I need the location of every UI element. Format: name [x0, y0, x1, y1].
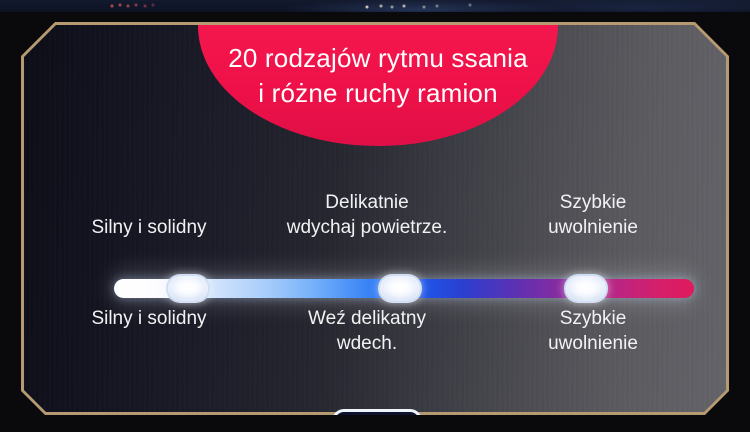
outer-edge-right [729, 12, 750, 432]
label-top-2-line-1: Delikatnie [254, 190, 480, 215]
labels-below-slider: Silny i solidny Weź delikatny wdech. Szy… [44, 306, 706, 376]
headline-line-2: i różne ruchy ramion [258, 76, 498, 111]
gold-bevel-frame: 20 rodzajów rytmu ssania i różne ruchy r… [21, 22, 729, 415]
headline-line-1: 20 rodzajów rytmu ssania [228, 41, 528, 76]
outer-edge-top [0, 12, 750, 22]
label-top-1-line-1: Silny i solidny [44, 215, 254, 240]
label-top-3-line-1: Szybkie [480, 190, 706, 215]
slider-thumb-1[interactable] [166, 274, 210, 303]
slider-thumb-3[interactable] [564, 274, 608, 303]
label-top-3-line-2: uwolnienie [480, 215, 706, 240]
label-bottom-3: Szybkie uwolnienie [480, 306, 706, 356]
headline-banner: 20 rodzajów rytmu ssania i różne ruchy r… [198, 25, 558, 146]
product-feature-panel: 20 rodzajów rytmu ssania i różne ruchy r… [0, 0, 750, 432]
outer-edge-bottom [0, 415, 750, 432]
intensity-slider[interactable] [114, 273, 694, 303]
label-bottom-3-line-2: uwolnienie [480, 331, 706, 356]
label-top-1: Silny i solidny [44, 215, 254, 240]
label-top-2: Delikatnie wdychaj powietrze. [254, 190, 480, 240]
label-bottom-3-line-1: Szybkie [480, 306, 706, 331]
label-bottom-1-line-1: Silny i solidny [44, 306, 254, 331]
label-top-3: Szybkie uwolnienie [480, 190, 706, 240]
label-top-2-line-2: wdychaj powietrze. [254, 215, 480, 240]
label-bottom-2-line-1: Weź delikatny [254, 306, 480, 331]
outer-edge-left [0, 12, 21, 432]
slider-thumb-2[interactable] [378, 274, 422, 303]
label-bottom-2-line-2: wdech. [254, 331, 480, 356]
label-bottom-1: Silny i solidny [44, 306, 254, 331]
panel-body: 20 rodzajów rytmu ssania i różne ruchy r… [24, 25, 726, 412]
label-bottom-2: Weź delikatny wdech. [254, 306, 480, 356]
labels-above-slider: Silny i solidny Delikatnie wdychaj powie… [44, 178, 706, 240]
